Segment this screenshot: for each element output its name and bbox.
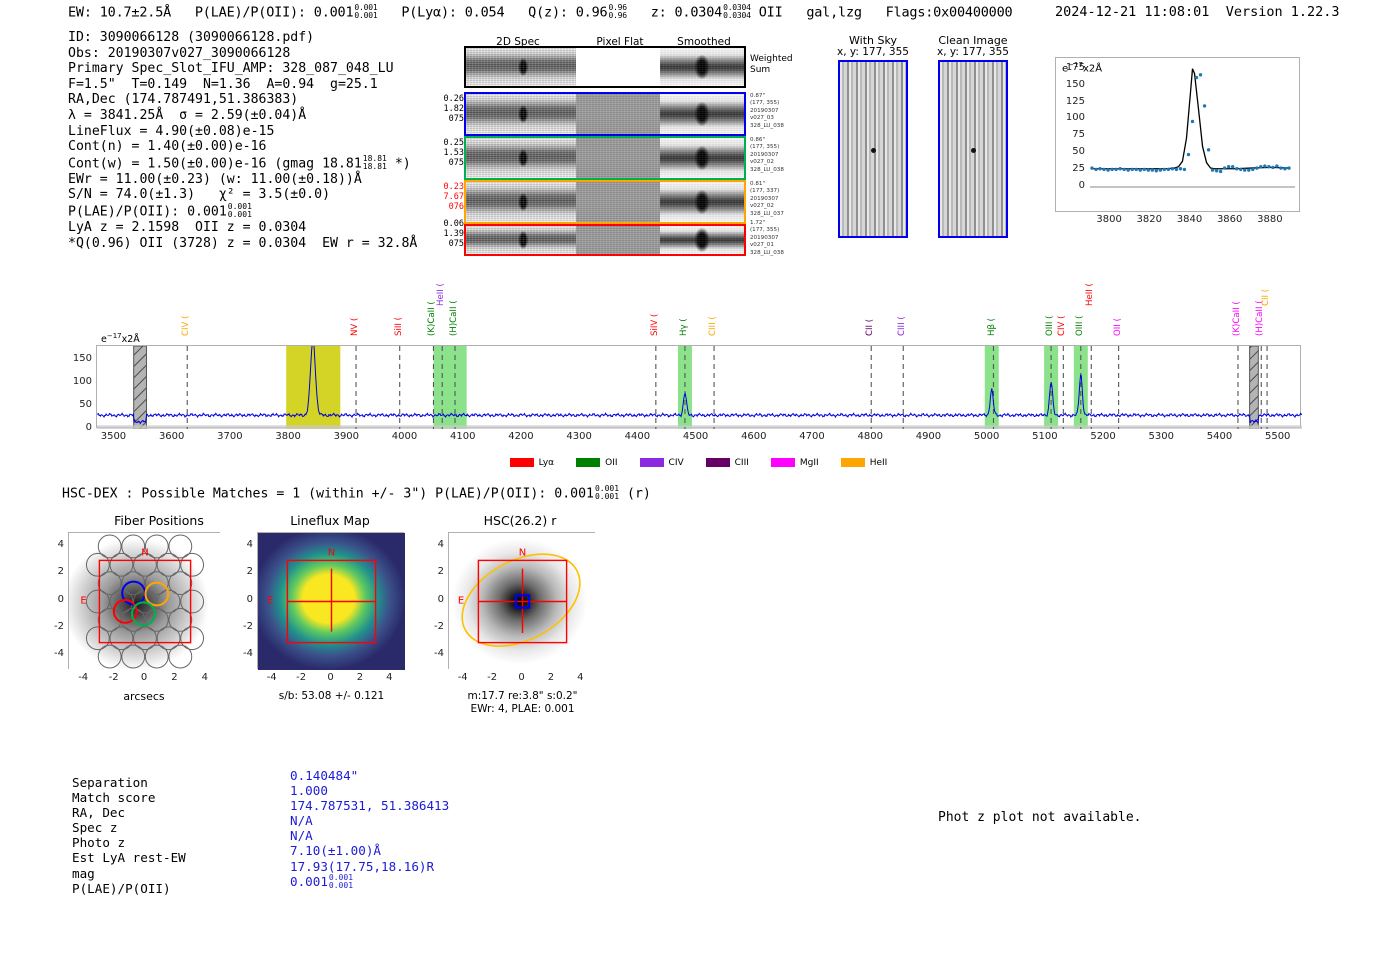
spectrum-xtick-5300: 5300 <box>1139 431 1183 442</box>
spectrum-line-label: CIV ( <box>1057 296 1067 336</box>
legend-label: OII <box>605 458 617 468</box>
spectrum-line-label: Hγ ( <box>679 296 689 336</box>
spectrum-line-label: OII ( <box>1113 296 1123 336</box>
profile-xtick-3840: 3840 <box>1169 214 1209 225</box>
panel0-xtick-2: 2 <box>159 672 189 683</box>
match-value-photoz: N/A <box>290 828 449 843</box>
match-table-labels: Separation Match score RA, Dec Spec z Ph… <box>72 775 186 896</box>
profile-ytick-100: 100 <box>1055 112 1085 123</box>
info-cont-w: Cont(w) = 1.50(±0.00)e-16 (gmag 18.8118.… <box>68 155 417 172</box>
info-gmag-range: 18.8118.81 <box>363 155 387 172</box>
info-id: ID: 3090066128 (3090066128.pdf) <box>68 30 417 46</box>
spectrum-ytick-0: 0 <box>60 422 92 433</box>
header-qz: Q(z): 0.96 <box>528 4 607 20</box>
legend-swatch <box>706 458 730 467</box>
match-value-estlyaew: 7.10(±1.00)Å <box>290 843 449 858</box>
cutout-coords-clean: x, y: 177, 355 <box>923 46 1023 58</box>
hsc-image-plot: NE <box>448 532 595 669</box>
header-ew: EW: 10.7±2.5Å <box>68 4 171 20</box>
panel2-xtick--4: -4 <box>448 672 478 683</box>
spectrum-line-label: (K)CaII ( <box>1232 296 1242 336</box>
match-value-radec: 174.787531, 51.386413 <box>290 798 449 813</box>
info-sn: S/N = 74.0(±1.3) χ² = 3.5(±0.0) <box>68 187 417 203</box>
panel2-ytick--2: -2 <box>421 621 444 632</box>
photz-note: Phot z plot not available. <box>938 810 1142 825</box>
spectrum-xtick-4800: 4800 <box>848 431 892 442</box>
panel1-xtick-4: 4 <box>374 672 404 683</box>
legend-label: MgII <box>800 458 819 468</box>
match-plae-range: 0.0010.001 <box>329 874 353 891</box>
line-profile-plot: e−17x2Å <box>1055 57 1300 212</box>
spectrum-xtick-5400: 5400 <box>1198 431 1242 442</box>
header-classification: gal,lzg <box>806 4 862 20</box>
spectrum-xtick-5500: 5500 <box>1256 431 1300 442</box>
info-lambda: λ = 3841.25Å σ = 2.59(±0.04)Å <box>68 108 417 124</box>
hsc-sublabel2: EWr: 4, PLAE: 0.001 <box>430 703 615 715</box>
profile-ytick-150: 150 <box>1055 79 1085 90</box>
spectrum-line-label: Hβ ( <box>987 296 997 336</box>
spec2d-row-4-meta: 1.72"(177, 355)20190307v027_01328_LU_038 <box>750 220 784 257</box>
spectrum-xtick-4600: 4600 <box>732 431 776 442</box>
spec2d-row-2-meta: 0.86"(177, 355)20190307v027_02328_LU_038 <box>750 137 784 174</box>
panel-title-fiber-positions: Fiber Positions <box>64 513 254 528</box>
spec2d-row-1 <box>464 92 746 136</box>
spectrum-xtick-3900: 3900 <box>324 431 368 442</box>
legend-label: HeII <box>870 458 888 468</box>
spec2d-row-3-values: 0.237.67076 <box>428 182 464 212</box>
profile-ytick-25: 25 <box>1055 163 1085 174</box>
spectrum-xtick-4700: 4700 <box>790 431 834 442</box>
header-qz-range: 0.960.96 <box>608 4 626 21</box>
profile-ytick-50: 50 <box>1055 146 1085 157</box>
spectrum-flux-annotation: e−17x2Å <box>101 332 140 345</box>
panel1-ytick-0: 0 <box>230 594 253 605</box>
spectrum-line-label: CIV ( <box>181 296 191 336</box>
spectrum-line-label: CII ( <box>1261 266 1271 306</box>
info-obs: Obs: 20190307v027_3090066128 <box>68 46 417 62</box>
header-z: z: 0.0304 <box>651 4 722 20</box>
info-cont-n: Cont(n) = 1.40(±0.00)e-16 <box>68 139 417 155</box>
panel2-ytick-2: 2 <box>421 566 444 577</box>
spec2d-row-4 <box>464 224 746 256</box>
info-plae-range: 0.0010.001 <box>228 203 252 220</box>
spectrum-xtick-3500: 3500 <box>91 431 135 442</box>
match-label-estlyaew: Est LyA rest-EW <box>72 850 186 865</box>
spectrum-line-label: HeII ( <box>436 266 446 306</box>
panel0-ytick--2: -2 <box>41 621 64 632</box>
spec2d-row-weighted-sum <box>464 46 746 88</box>
spectrum-xtick-5200: 5200 <box>1081 431 1125 442</box>
spec2d-row-4-values: 0.061.39075 <box>428 219 464 249</box>
spectrum-xtick-4100: 4100 <box>441 431 485 442</box>
match-label-photoz: Photo z <box>72 835 186 850</box>
profile-ytick-175: 175 <box>1055 62 1085 73</box>
profile-ytick-125: 125 <box>1055 96 1085 107</box>
panel2-xtick-4: 4 <box>565 672 595 683</box>
spectrum-xtick-3700: 3700 <box>208 431 252 442</box>
spec2d-row-3-meta: 0.81"(177, 337)20190307v027_02328_LU_037 <box>750 181 784 218</box>
svg-text:N: N <box>141 548 148 559</box>
spectrum-xtick-4400: 4400 <box>615 431 659 442</box>
legend-swatch <box>510 458 534 467</box>
spectrum-legend: LyαOIICIVCIIIMgIIHeII <box>96 452 1301 471</box>
header-plae-label: P(LAE)/P(OII): 0.001 <box>195 4 354 20</box>
panel-title-hsc: HSC(26.2) r <box>440 513 600 528</box>
profile-xtick-3820: 3820 <box>1129 214 1169 225</box>
match-value-specz: N/A <box>290 813 449 828</box>
info-qline: *Q(0.96) OII (3728) z = 0.0304 EW r = 32… <box>68 236 417 252</box>
lineflux-sublabel: s/b: 53.08 +/- 0.121 <box>244 690 419 702</box>
header-flags: Flags:0x00400000 <box>886 4 1013 20</box>
spectrum-xtick-5100: 5100 <box>1023 431 1067 442</box>
panel0-xtick--2: -2 <box>99 672 129 683</box>
spectrum-line-label: SiIV ( <box>650 296 660 336</box>
spectrum-line-label: SiII ( <box>394 296 404 336</box>
legend-label: CIII <box>735 458 749 468</box>
legend-label: Lyα <box>539 458 554 468</box>
spectrum-line-label: HeII ( <box>1085 266 1095 306</box>
panel1-xtick-2: 2 <box>345 672 375 683</box>
match-label-score: Match score <box>72 790 186 805</box>
header-z-species: OII <box>759 4 783 20</box>
spec2d-row-1-values: 0.261.82075 <box>428 94 464 124</box>
panel1-ytick--4: -4 <box>230 648 253 659</box>
panel0-ytick-2: 2 <box>41 566 64 577</box>
header-z-range: 0.03040.0304 <box>723 4 751 21</box>
fiber-positions-plot: NE <box>68 532 220 669</box>
panel0-ytick--4: -4 <box>41 648 64 659</box>
svg-text:E: E <box>458 596 464 607</box>
legend-swatch <box>771 458 795 467</box>
cutout-coords-with-sky: x, y: 177, 355 <box>823 46 923 58</box>
match-label-mag: mag <box>72 866 186 881</box>
spectrum-xtick-4900: 4900 <box>906 431 950 442</box>
spectrum-xtick-4000: 4000 <box>383 431 427 442</box>
match-value-mag: 17.93(17.75,18.16)R <box>290 859 449 874</box>
profile-xtick-3860: 3860 <box>1210 214 1250 225</box>
spectrum-xtick-4500: 4500 <box>674 431 718 442</box>
panel2-xtick-0: 0 <box>507 672 537 683</box>
info-ewr: EWr = 11.00(±0.23) (w: 11.00(±0.18))Å <box>68 172 417 188</box>
spectrum-line-label: (H)CaII ( <box>449 296 459 336</box>
panel2-ytick--4: -4 <box>421 648 444 659</box>
hsc-plae-range: 0.0010.001 <box>595 485 619 502</box>
full-spectrum-plot: e−17x2Å <box>96 345 1301 428</box>
info-lineflux: LineFlux = 4.90(±0.08)e-15 <box>68 124 417 140</box>
spec2d-row-1-meta: 0.87"(177, 355)20190307v027_03328_LU_038 <box>750 93 784 130</box>
svg-text:E: E <box>80 596 86 607</box>
cutout-with-sky <box>838 60 908 238</box>
legend-item: CIII <box>706 458 749 468</box>
spectrum-xtick-5000: 5000 <box>965 431 1009 442</box>
panel0-ytick-4: 4 <box>41 539 64 550</box>
match-value-separation: 0.140484" <box>290 768 449 783</box>
legend-item: HeII <box>841 458 888 468</box>
match-label-radec: RA, Dec <box>72 805 186 820</box>
legend-swatch <box>841 458 865 467</box>
spectrum-line-label: CII ( <box>865 296 875 336</box>
spectrum-ytick-50: 50 <box>60 399 92 410</box>
info-plae: P(LAE)/P(OII): 0.0010.0010.001 <box>68 203 417 220</box>
info-radec: RA,Dec (174.787491,51.386383) <box>68 92 417 108</box>
info-primary-spec: Primary Spec_Slot_IFU_AMP: 328_087_048_L… <box>68 61 417 77</box>
profile-ytick-0: 0 <box>1055 180 1085 191</box>
hsc-sublabel: m:17.7 re:3.8" s:0.2" <box>430 690 615 702</box>
panel1-xtick--2: -2 <box>286 672 316 683</box>
header-version: Version 1.22.3 <box>1226 4 1340 20</box>
match-label-separation: Separation <box>72 775 186 790</box>
legend-item: MgII <box>771 458 819 468</box>
weighted-sum-label: WeightedSum <box>750 54 793 75</box>
match-label-specz: Spec z <box>72 820 186 835</box>
legend-item: Lyα <box>510 458 554 468</box>
spectrum-xtick-3800: 3800 <box>266 431 310 442</box>
spec2d-row-3 <box>464 180 746 224</box>
spectrum-xtick-4200: 4200 <box>499 431 543 442</box>
spectrum-line-label: CIII ( <box>897 296 907 336</box>
panel2-ytick-0: 0 <box>421 594 444 605</box>
panel0-xtick-4: 4 <box>190 672 220 683</box>
svg-text:E: E <box>267 596 273 607</box>
spectrum-line-label: NV ( <box>350 296 360 336</box>
match-value-plae: 0.0010.0010.001 <box>290 874 449 891</box>
panel-title-lineflux-map: Lineflux Map <box>250 513 410 528</box>
detection-info-block: ID: 3090066128 (3090066128.pdf) Obs: 201… <box>68 30 417 251</box>
legend-label: CIV <box>669 458 684 468</box>
spectrum-xtick-4300: 4300 <box>557 431 601 442</box>
panel0-xtick--4: -4 <box>68 672 98 683</box>
profile-xtick-3800: 3800 <box>1089 214 1129 225</box>
spectrum-line-label: OIII ( <box>1045 296 1055 336</box>
match-table-values: 0.140484" 1.000 174.787531, 51.386413 N/… <box>290 768 449 891</box>
svg-text:N: N <box>328 548 335 559</box>
svg-text:N: N <box>519 548 526 559</box>
header-plae-range: 0.0010.001 <box>354 4 377 21</box>
spec2d-row-2-values: 0.251.53075 <box>428 138 464 168</box>
spectrum-ytick-150: 150 <box>60 353 92 364</box>
hsc-dex-title: HSC-DEX : Possible Matches = 1 (within +… <box>62 485 651 502</box>
lineflux-map-plot: NE <box>257 532 404 669</box>
spec2d-row-2 <box>464 136 746 180</box>
match-label-plae: P(LAE)/P(OII) <box>72 881 186 896</box>
header-plya: P(Lyα): 0.054 <box>401 4 504 20</box>
match-value-score: 1.000 <box>290 783 449 798</box>
legend-item: OII <box>576 458 617 468</box>
spectrum-xtick-3600: 3600 <box>150 431 194 442</box>
panel2-xtick-2: 2 <box>536 672 566 683</box>
spectrum-line-label: CIII ( <box>708 296 718 336</box>
panel1-ytick-4: 4 <box>230 539 253 550</box>
profile-ytick-75: 75 <box>1055 129 1085 140</box>
profile-xtick-3880: 3880 <box>1250 214 1290 225</box>
fiber-xlabel: arcsecs <box>68 690 220 703</box>
panel0-xtick-0: 0 <box>129 672 159 683</box>
info-redshifts: LyA z = 2.1598 OII z = 0.0304 <box>68 220 417 236</box>
header-timestamp: 2024-12-21 11:08:01 <box>1055 4 1209 20</box>
panel1-ytick-2: 2 <box>230 566 253 577</box>
cutout-clean-image <box>938 60 1008 238</box>
spectrum-line-label: OIII ( <box>1075 296 1085 336</box>
legend-swatch <box>640 458 664 467</box>
legend-swatch <box>576 458 600 467</box>
panel2-ytick-4: 4 <box>421 539 444 550</box>
info-seeing: F=1.5" T=0.149 N=1.36 A=0.94 g=25.1 <box>68 77 417 93</box>
legend-item: CIV <box>640 458 684 468</box>
panel2-xtick--2: -2 <box>477 672 507 683</box>
panel1-xtick-0: 0 <box>316 672 346 683</box>
spectrum-ytick-100: 100 <box>60 376 92 387</box>
panel1-ytick--2: -2 <box>230 621 253 632</box>
panel0-ytick-0: 0 <box>41 594 64 605</box>
header-summary-line: EW: 10.7±2.5Å P(LAE)/P(OII): 0.0010.0010… <box>68 4 1012 21</box>
panel1-xtick--4: -4 <box>257 672 287 683</box>
header-meta: 2024-12-21 11:08:01 Version 1.22.3 <box>1055 4 1340 20</box>
